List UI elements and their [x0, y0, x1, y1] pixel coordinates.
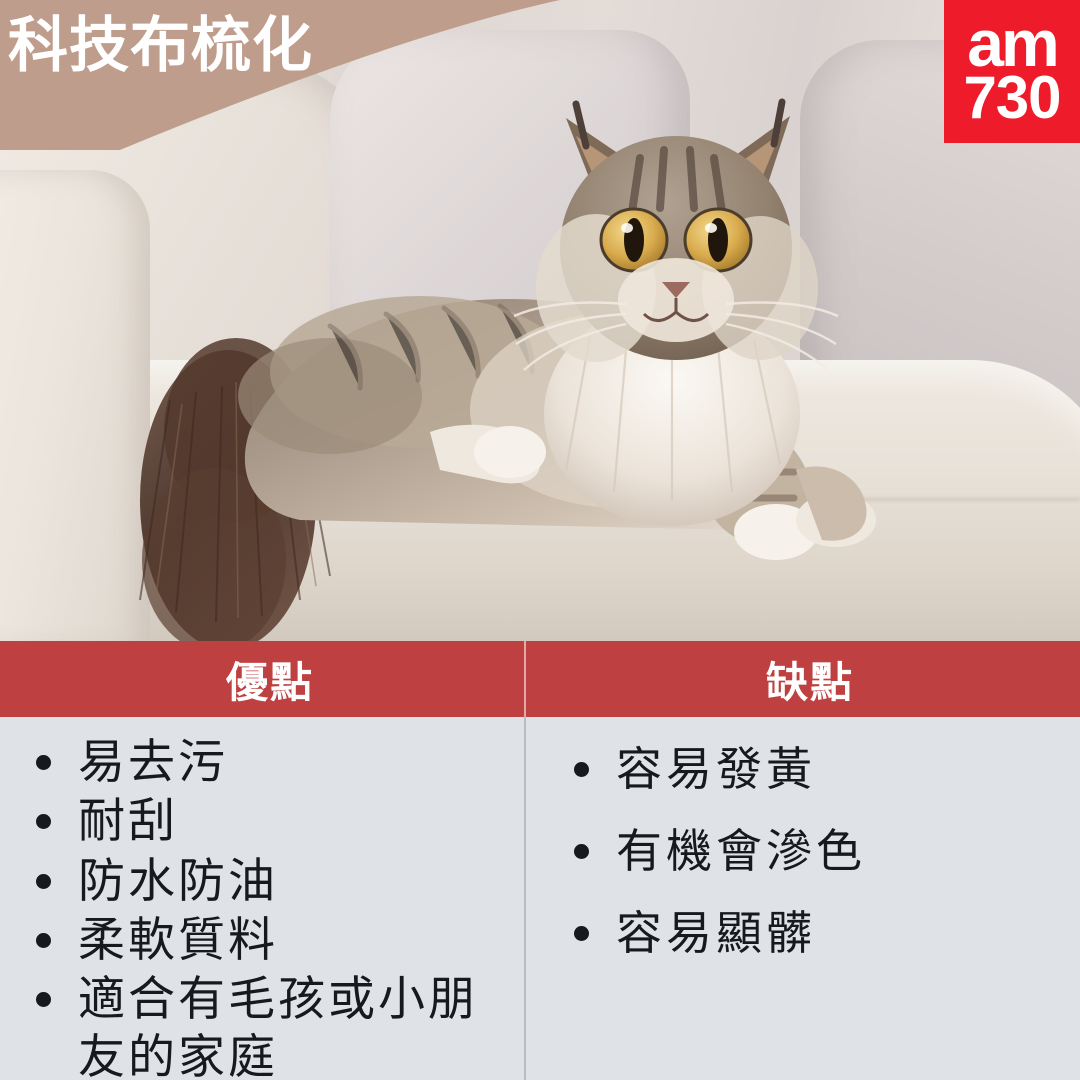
list-item: 耐刮: [34, 792, 510, 849]
infographic-page: 科技布梳化 am 730 優點 缺點 易去污 耐刮 防水防油 柔軟質料 適合有毛…: [0, 0, 1080, 1080]
table-body: 易去污 耐刮 防水防油 柔軟質料 適合有毛孩或小朋友的家庭 容易發黃 有機會滲色…: [0, 717, 1080, 1080]
list-item: 容易發黃: [572, 741, 1066, 797]
table-header-cons: 缺點: [540, 641, 1080, 717]
column-pros: 易去污 耐刮 防水防油 柔軟質料 適合有毛孩或小朋友的家庭: [0, 717, 524, 1080]
table-header-row: 優點 缺點: [0, 641, 1080, 717]
column-cons: 容易發黃 有機會滲色 容易顯髒: [524, 717, 1080, 1080]
hero-photo: 科技布梳化 am 730: [0, 0, 1080, 641]
bullet-icon: [36, 755, 51, 770]
list-item: 易去污: [34, 733, 510, 790]
bullet-icon: [36, 933, 51, 948]
header-column-divider: [524, 641, 526, 717]
logo-text-730: 730: [963, 71, 1060, 125]
list-item-label: 柔軟質料: [78, 913, 278, 966]
list-item-label: 易去污: [78, 735, 228, 788]
list-item: 防水防油: [34, 852, 510, 909]
list-item: 容易顯髒: [572, 905, 1066, 961]
list-item-label: 適合有毛孩或小朋友的家庭: [78, 972, 478, 1080]
bullet-icon: [36, 992, 51, 1007]
list-item: 有機會滲色: [572, 823, 1066, 879]
am730-logo[interactable]: am 730: [944, 0, 1080, 143]
cons-list: 容易發黃 有機會滲色 容易顯髒: [572, 741, 1066, 961]
list-item-label: 有機會滲色: [616, 825, 866, 877]
bullet-icon: [574, 926, 589, 941]
page-title: 科技布梳化: [8, 14, 528, 77]
list-item-label: 耐刮: [78, 794, 178, 847]
list-item-label: 防水防油: [78, 854, 278, 907]
list-item-label: 容易發黃: [616, 743, 816, 795]
logo-text-am: am: [967, 16, 1056, 70]
list-item-label: 容易顯髒: [616, 907, 816, 959]
bullet-icon: [574, 762, 589, 777]
pros-list: 易去污 耐刮 防水防油 柔軟質料 適合有毛孩或小朋友的家庭: [34, 733, 510, 1080]
bullet-icon: [574, 844, 589, 859]
list-item: 柔軟質料: [34, 911, 510, 968]
table-header-pros: 優點: [0, 641, 540, 717]
list-item: 適合有毛孩或小朋友的家庭: [34, 970, 510, 1080]
cat-head: [514, 102, 838, 370]
pros-cons-table: 優點 缺點 易去污 耐刮 防水防油 柔軟質料 適合有毛孩或小朋友的家庭 容易發黃…: [0, 641, 1080, 1080]
bullet-icon: [36, 874, 51, 889]
title-banner: 科技布梳化: [0, 0, 560, 170]
bullet-icon: [36, 814, 51, 829]
